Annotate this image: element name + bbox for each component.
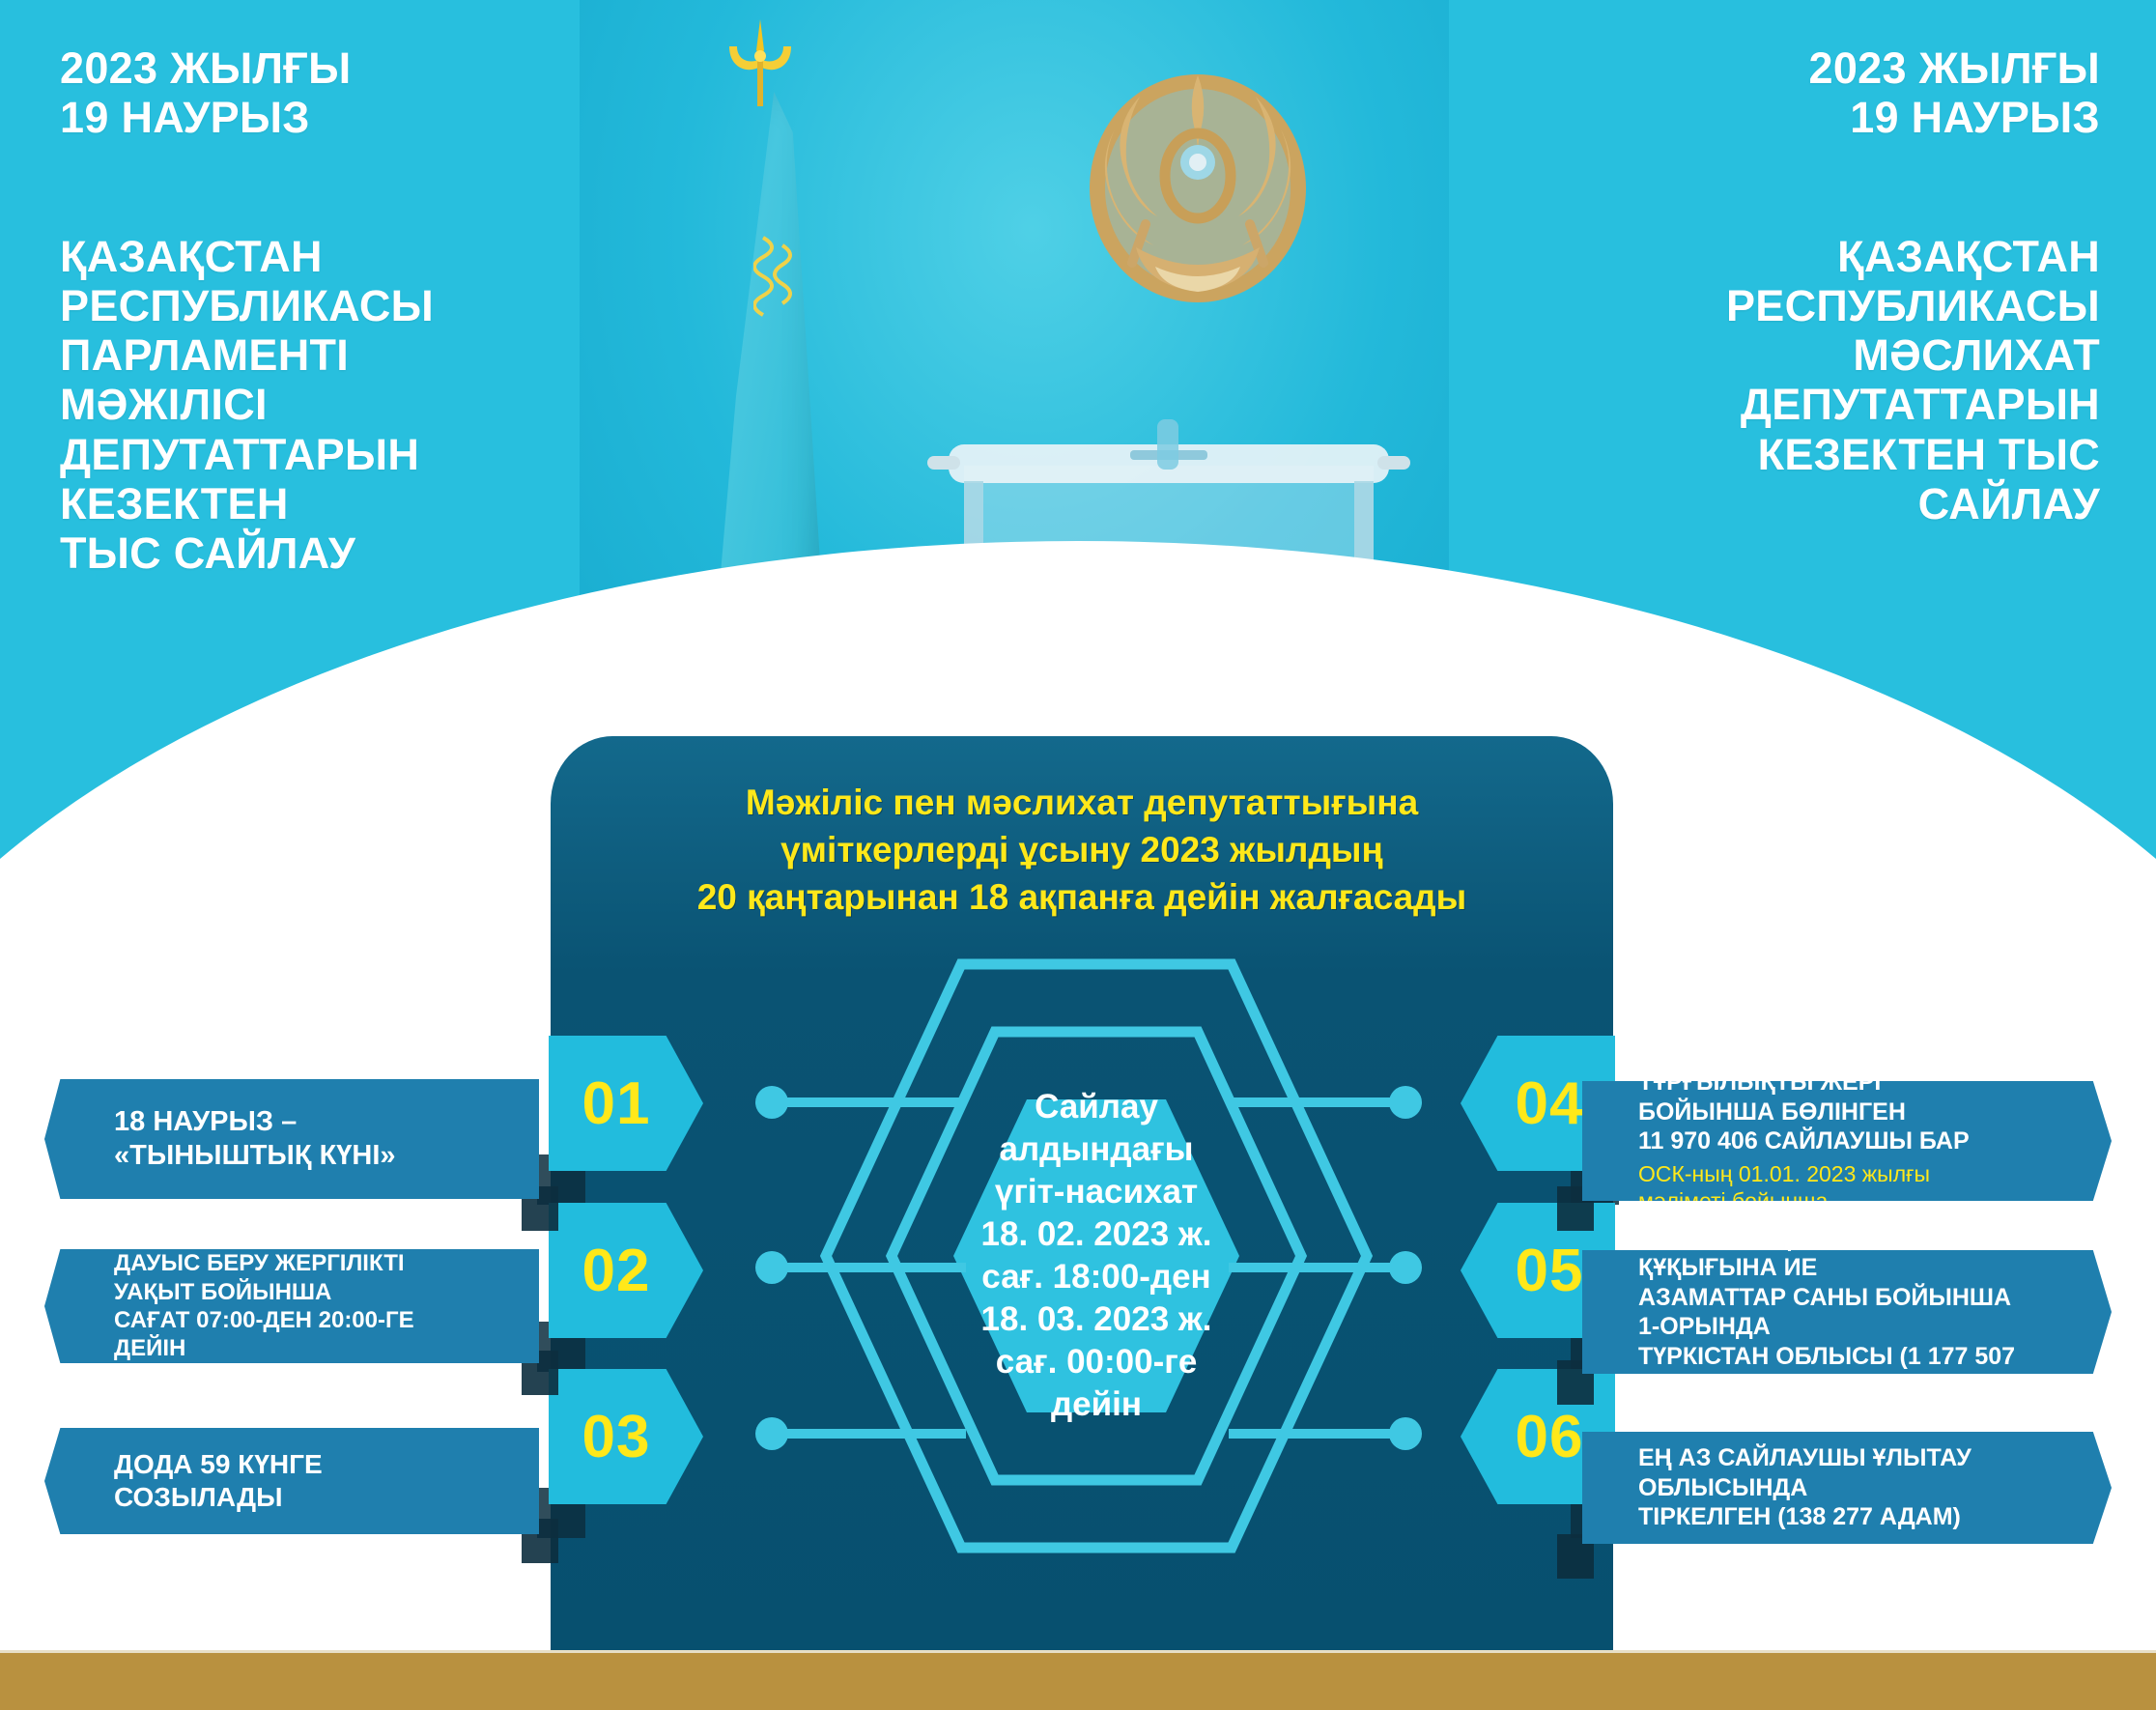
flag-ornament xyxy=(753,232,802,338)
connector-line-05 xyxy=(1229,1263,1403,1272)
right-title-block: 2023 ЖЫЛҒЫ 19 НАУРЫЗ ҚАЗАҚСТАН РЕСПУБЛИК… xyxy=(1578,43,2100,528)
info-banner-02[interactable]: ДАУЫС БЕРУ ЖЕРГІЛІКТІ УАҚЫТ БОЙЫНША САҒА… xyxy=(44,1249,539,1363)
info-banner-05-text: САЙЛАУҒА ҚАТЫСУШЫ ҚҰҚЫҒЫНА ИЕ АЗАМАТТАР … xyxy=(1638,1224,2019,1401)
left-title-date: 2023 ЖЫЛҒЫ 19 НАУРЫЗ xyxy=(60,43,562,143)
info-banner-01[interactable]: 18 НАУРЫЗ – «ТЫНЫШТЫҚ КҮНІ» xyxy=(44,1079,539,1199)
footer-gold-bar xyxy=(0,1650,2156,1710)
hexagon-diagram: Сайлау алдындағы үгіт-насихат 18. 02. 20… xyxy=(720,956,1473,1555)
connector-line-04 xyxy=(1229,1097,1403,1107)
number-chip-01-label: 01 xyxy=(582,1069,651,1138)
connector-line-02 xyxy=(773,1263,966,1272)
connector-line-06 xyxy=(1229,1429,1403,1439)
connector-line-03 xyxy=(773,1429,966,1439)
number-chip-05-label: 05 xyxy=(1516,1237,1584,1305)
number-chip-02-label: 02 xyxy=(582,1237,651,1305)
left-title-block: 2023 ЖЫЛҒЫ 19 НАУРЫЗ ҚАЗАҚСТАН РЕСПУБЛИК… xyxy=(60,43,562,579)
info-banner-04-text: ТҰРҒЫЛЫҚТЫ ЖЕРІ БОЙЫНША БӨЛІНГЕН 11 970 … xyxy=(1638,1068,2019,1156)
panel-headline: Мәжіліс пен мәслихат депутаттығына үмітк… xyxy=(551,779,1613,922)
right-title-body: ҚАЗАҚСТАН РЕСПУБЛИКАСЫ МӘСЛИХАТ ДЕПУТАТТ… xyxy=(1578,232,2100,529)
info-banner-04[interactable]: ТҰРҒЫЛЫҚТЫ ЖЕРІ БОЙЫНША БӨЛІНГЕН 11 970 … xyxy=(1582,1081,2112,1201)
left-title-body: ҚАЗАҚСТАН РЕСПУБЛИКАСЫ ПАРЛАМЕНТІ МӘЖІЛІ… xyxy=(60,232,562,579)
info-banner-02-text: ДАУЫС БЕРУ ЖЕРГІЛІКТІ УАҚЫТ БОЙЫНША САҒА… xyxy=(114,1249,491,1362)
info-banner-03[interactable]: ДОДА 59 КҮНГЕ СОЗЫЛАДЫ xyxy=(44,1428,539,1534)
right-title-date: 2023 ЖЫЛҒЫ 19 НАУРЫЗ xyxy=(1578,43,2100,143)
hexagon-center-text: Сайлау алдындағы үгіт-насихат 18. 02. 20… xyxy=(981,1086,1212,1427)
kazakhstan-emblem-icon xyxy=(1082,58,1314,328)
number-chip-03-label: 03 xyxy=(582,1403,651,1471)
number-chip-04-label: 04 xyxy=(1516,1069,1584,1138)
info-banner-06-text: ЕҢ АЗ САЙЛАУШЫ ҰЛЫТАУ ОБЛЫСЫНДА ТІРКЕЛГЕ… xyxy=(1638,1443,2019,1532)
flag-finial-icon xyxy=(718,17,805,114)
info-banner-01-text: 18 НАУРЫЗ – «ТЫНЫШТЫҚ КҮНІ» xyxy=(114,1105,491,1174)
number-chip-06-label: 06 xyxy=(1516,1403,1584,1471)
info-banner-05[interactable]: САЙЛАУҒА ҚАТЫСУШЫ ҚҰҚЫҒЫНА ИЕ АЗАМАТТАР … xyxy=(1582,1250,2112,1374)
connector-line-01 xyxy=(773,1097,966,1107)
info-banner-03-text: ДОДА 59 КҮНГЕ СОЗЫЛАДЫ xyxy=(114,1448,491,1514)
info-banner-04-note: ОСК-ның 01.01. 2023 жылғы мәліметі бойын… xyxy=(1638,1160,2019,1214)
info-banner-06[interactable]: ЕҢ АЗ САЙЛАУШЫ ҰЛЫТАУ ОБЛЫСЫНДА ТІРКЕЛГЕ… xyxy=(1582,1432,2112,1544)
